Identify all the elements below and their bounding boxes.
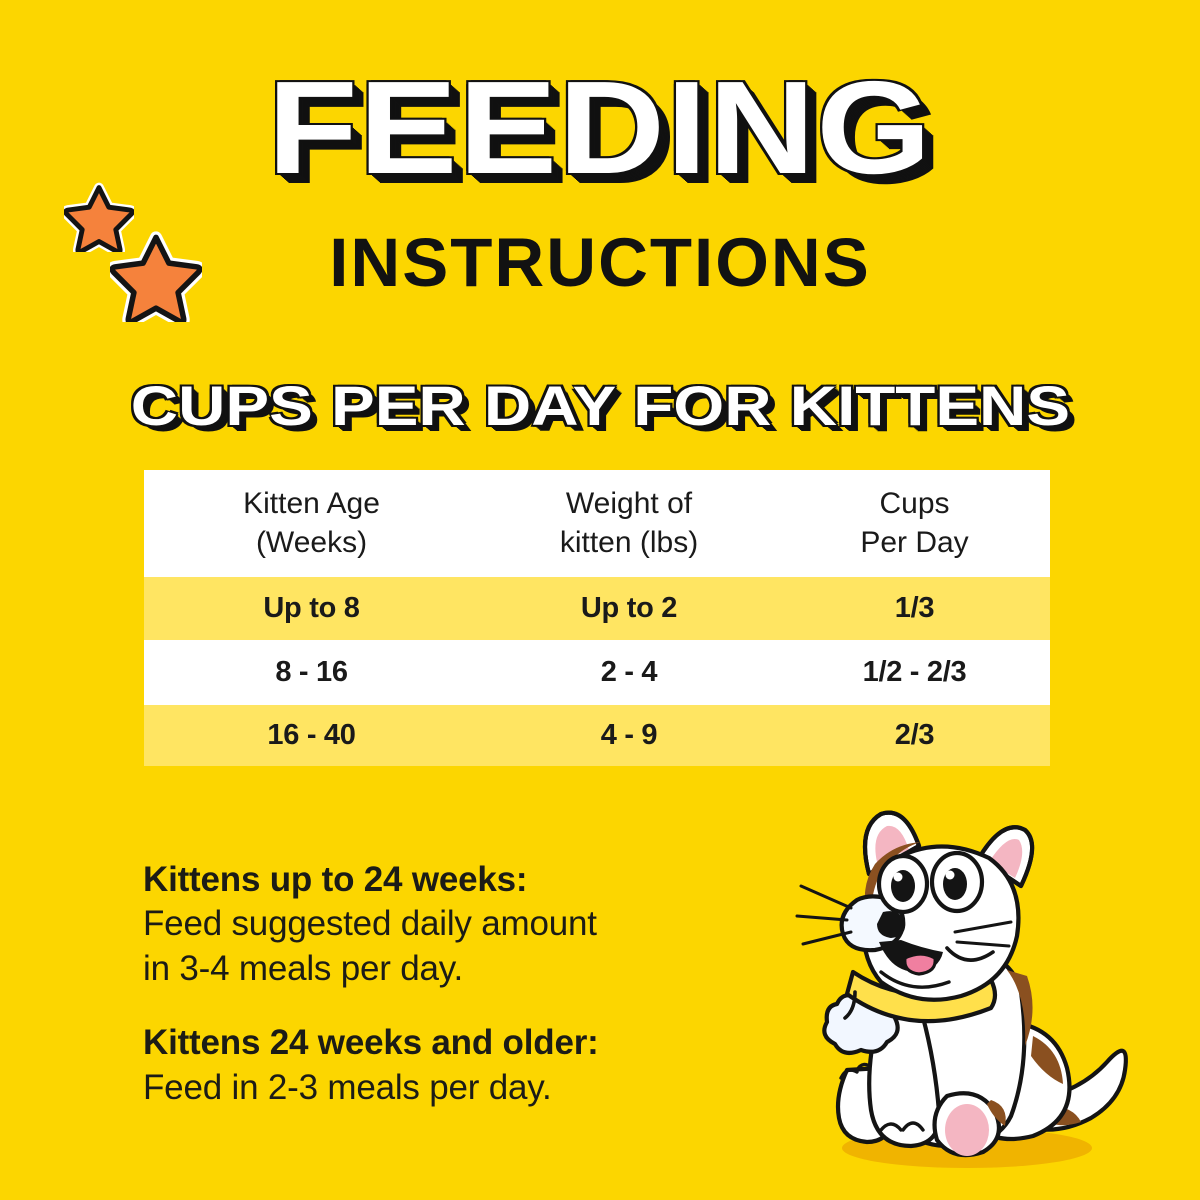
column-header-line-1: Weight of (479, 485, 779, 523)
column-header-line-1: Kitten Age (144, 485, 479, 523)
note-title: Kittens 24 weeks and older: (143, 1021, 783, 1065)
note-body-line-1: Feed in 2-3 meals per day. (143, 1066, 783, 1110)
feeding-table: Kitten Age (Weeks) Weight of kitten (lbs… (144, 470, 1050, 766)
column-header-line-2: Per Day (779, 524, 1050, 562)
note-block-older-kittens: Kittens 24 weeks and older: Feed in 2-3 … (143, 1021, 783, 1110)
cat-paw-pad (945, 1104, 989, 1156)
cell-age: 8 - 16 (144, 657, 479, 689)
table-row: 16 - 40 4 - 9 2/3 (144, 705, 1050, 766)
cell-cups: 1/3 (779, 593, 1050, 625)
column-header-line-1: Cups (779, 485, 1050, 523)
table-header-row: Kitten Age (Weeks) Weight of kitten (lbs… (144, 470, 1050, 577)
cell-weight: 2 - 4 (479, 657, 779, 689)
table-row: Up to 8 Up to 2 1/3 (144, 577, 1050, 640)
column-header-line-2: kitten (lbs) (479, 524, 779, 562)
cell-age: 16 - 40 (144, 720, 479, 752)
column-header-weight: Weight of kitten (lbs) (479, 485, 779, 561)
page-title-text: FEEDING (268, 62, 933, 194)
cell-weight: 4 - 9 (479, 720, 779, 752)
cell-age: Up to 8 (144, 593, 479, 625)
note-title: Kittens up to 24 weeks: (143, 858, 783, 902)
column-header-line-2: (Weeks) (144, 524, 479, 562)
cell-weight: Up to 2 (479, 593, 779, 625)
cat-tongue (905, 954, 935, 974)
page-subtitle: INSTRUCTIONS (0, 228, 1200, 297)
cat-eye-highlight-right (946, 871, 955, 880)
note-body-line-2: in 3-4 meals per day. (143, 947, 783, 991)
page-subtitle-text: INSTRUCTIONS (329, 228, 871, 297)
column-header-kitten-age: Kitten Age (Weeks) (144, 485, 479, 561)
poster-canvas: FEEDING INSTRUCTIONS CUPS PER DAY FOR KI… (0, 0, 1200, 1200)
table-row: 8 - 16 2 - 4 1/2 - 2/3 (144, 640, 1050, 705)
cat-eye-highlight-left (894, 873, 903, 882)
feeding-notes: Kittens up to 24 weeks: Feed suggested d… (143, 858, 783, 1110)
note-block-young-kittens: Kittens up to 24 weeks: Feed suggested d… (143, 858, 783, 991)
page-title: FEEDING (0, 62, 1200, 194)
section-banner-text: CUPS PER DAY FOR KITTENS (130, 378, 1069, 434)
note-body-line-1: Feed suggested daily amount (143, 902, 783, 946)
section-banner: CUPS PER DAY FOR KITTENS (0, 378, 1200, 434)
cell-cups: 1/2 - 2/3 (779, 657, 1050, 689)
cell-cups: 2/3 (779, 720, 1050, 752)
cat-illustration (795, 800, 1140, 1170)
column-header-cups-per-day: Cups Per Day (779, 485, 1050, 561)
